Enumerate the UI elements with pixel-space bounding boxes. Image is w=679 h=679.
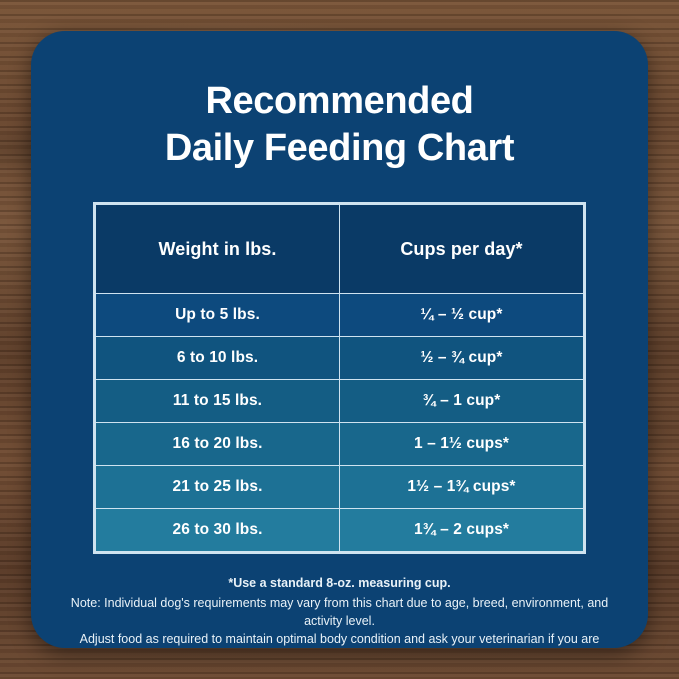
footnote-note-line-2: Adjust food as required to maintain opti… <box>70 630 610 648</box>
cell-weight: 21 to 25 lbs. <box>96 466 340 509</box>
feeding-chart-card: Recommended Daily Feeding Chart Weight i… <box>31 31 648 648</box>
column-header-weight: Weight in lbs. <box>96 205 340 294</box>
cell-weight: Up to 5 lbs. <box>96 294 340 337</box>
table-body: Up to 5 lbs. ¼ – ½ cup* 6 to 10 lbs. ½ –… <box>96 294 584 552</box>
table-row: 11 to 15 lbs. ¾ – 1 cup* <box>96 380 584 423</box>
cell-cups: 1½ – 1¾ cups* <box>340 466 584 509</box>
cell-cups: ¼ – ½ cup* <box>340 294 584 337</box>
table-head: Weight in lbs. Cups per day* <box>96 205 584 294</box>
cell-cups: ¾ – 1 cup* <box>340 380 584 423</box>
cell-weight: 6 to 10 lbs. <box>96 337 340 380</box>
footnote-measuring-cup: *Use a standard 8-oz. measuring cup. <box>70 576 610 590</box>
cell-cups: ½ – ¾ cup* <box>340 337 584 380</box>
page-title: Recommended Daily Feeding Chart <box>31 31 648 172</box>
table-row: 6 to 10 lbs. ½ – ¾ cup* <box>96 337 584 380</box>
title-line-1: Recommended <box>205 80 473 122</box>
feeding-table: Weight in lbs. Cups per day* Up to 5 lbs… <box>95 204 584 552</box>
title-line-2: Daily Feeding Chart <box>91 125 588 172</box>
cell-cups: 1¾ – 2 cups* <box>340 509 584 552</box>
footnote-note-line-1: Note: Individual dog's requirements may … <box>70 594 610 630</box>
cell-weight: 16 to 20 lbs. <box>96 423 340 466</box>
feeding-table-wrapper: Weight in lbs. Cups per day* Up to 5 lbs… <box>93 202 586 554</box>
table-row: 26 to 30 lbs. 1¾ – 2 cups* <box>96 509 584 552</box>
footnotes: *Use a standard 8-oz. measuring cup. Not… <box>70 576 610 648</box>
table-row: 16 to 20 lbs. 1 – 1½ cups* <box>96 423 584 466</box>
cell-weight: 26 to 30 lbs. <box>96 509 340 552</box>
cell-cups: 1 – 1½ cups* <box>340 423 584 466</box>
table-header-row: Weight in lbs. Cups per day* <box>96 205 584 294</box>
column-header-cups: Cups per day* <box>340 205 584 294</box>
screenshot-root: Recommended Daily Feeding Chart Weight i… <box>0 0 679 679</box>
table-row: Up to 5 lbs. ¼ – ½ cup* <box>96 294 584 337</box>
table-row: 21 to 25 lbs. 1½ – 1¾ cups* <box>96 466 584 509</box>
cell-weight: 11 to 15 lbs. <box>96 380 340 423</box>
